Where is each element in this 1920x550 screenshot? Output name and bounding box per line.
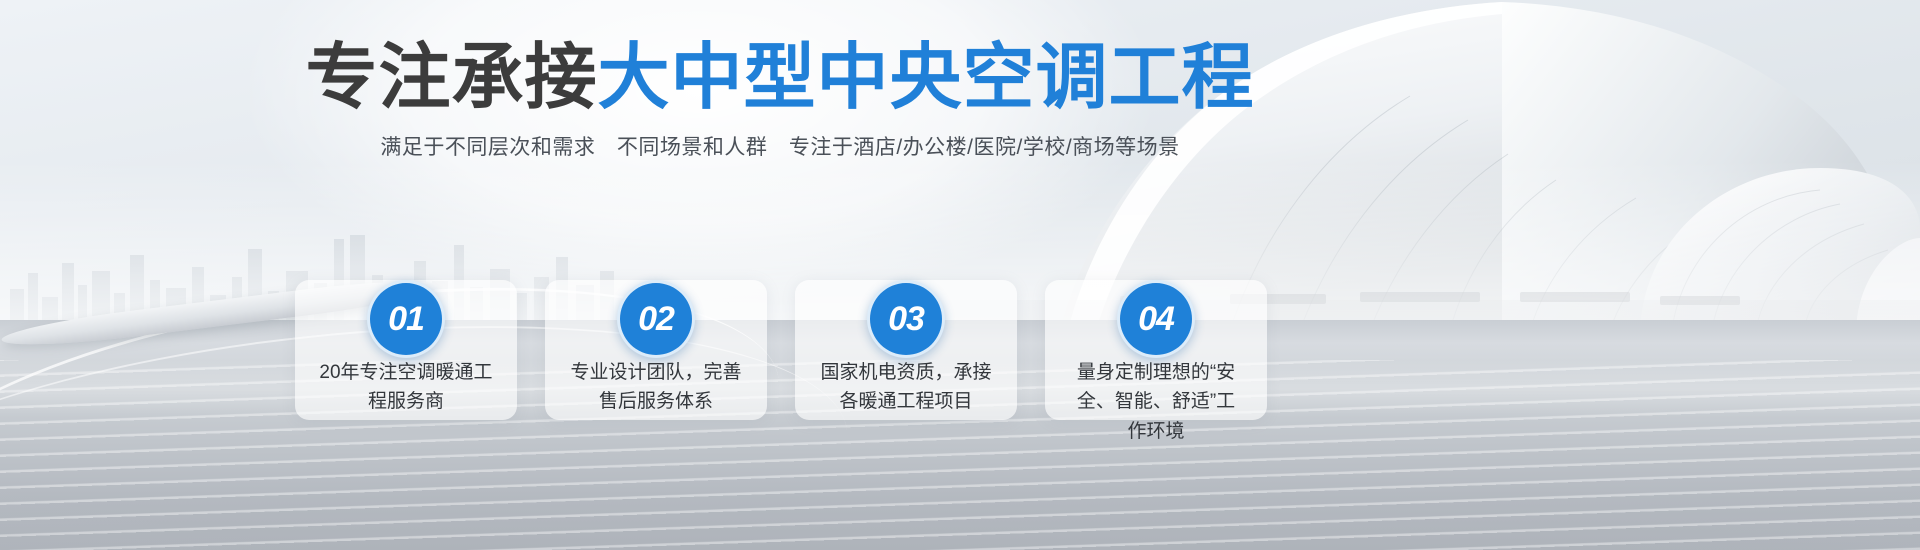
card-line-2: 各暖通工程项目 — [805, 387, 1007, 416]
card-description-2: 专业设计团队，完善 售后服务体系 — [555, 358, 757, 417]
card-number-badge-3: 03 — [867, 280, 945, 358]
card-number-badge-2: 02 — [617, 280, 695, 358]
card-line-1: 专业设计团队，完善 — [555, 358, 757, 387]
page-subtitle: 满足于不同层次和需求 不同场景和人群 专注于酒店/办公楼/医院/学校/商场等场景 — [0, 131, 1560, 161]
card-number-4: 04 — [1138, 302, 1174, 336]
card-line-1: 20年专注空调暖通工 — [305, 358, 507, 387]
feature-card-4[interactable]: 04 量身定制理想的“安 全、智能、舒适”工 作环境 — [1045, 280, 1267, 420]
feature-card-3[interactable]: 03 国家机电资质，承接 各暖通工程项目 — [795, 280, 1017, 420]
card-description-4: 量身定制理想的“安 全、智能、舒适”工 作环境 — [1055, 358, 1257, 446]
card-line-1: 国家机电资质，承接 — [805, 358, 1007, 387]
headline-blue-text: 大中型中央空调工程 — [598, 38, 1255, 118]
card-number-badge-4: 04 — [1117, 280, 1195, 358]
card-line-2: 全、智能、舒适”工 — [1055, 387, 1257, 416]
card-number-3: 03 — [888, 302, 924, 336]
card-line-1: 量身定制理想的“安 — [1055, 358, 1257, 387]
card-number-2: 02 — [638, 302, 674, 336]
page-title: 专注承接大中型中央空调工程 — [0, 42, 1560, 114]
card-line-2: 程服务商 — [305, 387, 507, 416]
feature-card-list: 01 20年专注空调暖通工 程服务商 02 专业设计团队，完善 售后服务体系 0… — [295, 228, 1295, 428]
headline-dark-text: 专注承接 — [305, 38, 597, 118]
hero-banner: 专注承接大中型中央空调工程 满足于不同层次和需求 不同场景和人群 专注于酒店/办… — [0, 0, 1920, 550]
feature-card-2[interactable]: 02 专业设计团队，完善 售后服务体系 — [545, 280, 767, 420]
feature-card-1[interactable]: 01 20年专注空调暖通工 程服务商 — [295, 280, 517, 420]
card-number-1: 01 — [388, 302, 424, 336]
card-number-badge-1: 01 — [367, 280, 445, 358]
card-line-2: 售后服务体系 — [555, 387, 757, 416]
card-description-3: 国家机电资质，承接 各暖通工程项目 — [805, 358, 1007, 417]
card-description-1: 20年专注空调暖通工 程服务商 — [305, 358, 507, 417]
card-line-3: 作环境 — [1055, 417, 1257, 446]
